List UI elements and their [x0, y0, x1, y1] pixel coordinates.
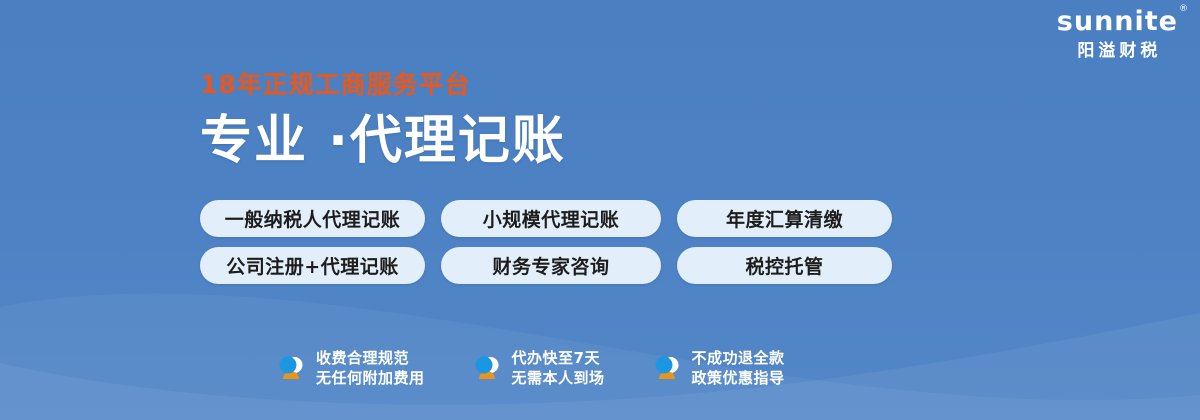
- service-pill-small-scale[interactable]: 小规模代理记账: [441, 200, 661, 237]
- service-pill-tax-control-hosting[interactable]: 税控托管: [677, 247, 892, 284]
- registered-trademark-icon: ®: [1179, 5, 1189, 14]
- dual-circle-icon: [275, 352, 307, 384]
- feature-text-guarantee: 不成功退全款 政策优惠指导: [692, 350, 785, 386]
- feature-strip: 收费合理规范 无任何附加费用 代办快至7天 无需本人到场: [275, 350, 785, 386]
- feature-item-guarantee: 不成功退全款 政策优惠指导: [651, 350, 785, 386]
- service-pill-finance-consulting[interactable]: 财务专家咨询: [441, 247, 661, 284]
- feature-line-1: 收费合理规范: [316, 350, 425, 367]
- service-pill-row-2: 公司注册+代理记账 财务专家咨询 税控托管: [200, 247, 892, 284]
- feature-text-pricing: 收费合理规范 无任何附加费用: [316, 350, 425, 386]
- service-pill-row-1: 一般纳税人代理记账 小规模代理记账 年度汇算清缴: [200, 200, 892, 237]
- service-pill-group: 一般纳税人代理记账 小规模代理记账 年度汇算清缴 公司注册+代理记账 财务专家咨…: [200, 200, 892, 284]
- feature-line-1: 代办快至7天: [512, 350, 605, 367]
- feature-line-2: 无任何附加费用: [316, 370, 425, 387]
- headline-block: 18年正规工商服务平台 专业 ·代理记账: [200, 72, 566, 169]
- promotional-banner: sunnite ® 阳溢财税 18年正规工商服务平台 专业 ·代理记账 一般纳税…: [0, 0, 1200, 420]
- eyebrow-text: 18年正规工商服务平台: [200, 72, 566, 97]
- feature-item-speed: 代办快至7天 无需本人到场: [471, 350, 605, 386]
- logo-wordmark-text: sunnite: [1057, 6, 1178, 37]
- service-pill-annual-settlement[interactable]: 年度汇算清缴: [677, 200, 892, 237]
- dual-circle-icon: [651, 352, 683, 384]
- service-pill-general-taxpayer[interactable]: 一般纳税人代理记账: [200, 200, 425, 237]
- feature-line-1: 不成功退全款: [692, 350, 785, 367]
- service-pill-company-registration[interactable]: 公司注册+代理记账: [200, 247, 425, 284]
- dual-circle-icon: [471, 352, 503, 384]
- logo-chinese-name: 阳溢财税: [1057, 42, 1178, 59]
- feature-line-2: 无需本人到场: [512, 370, 605, 387]
- page-title: 专业 ·代理记账: [200, 114, 566, 169]
- logo-wordmark: sunnite ®: [1057, 8, 1178, 35]
- feature-text-speed: 代办快至7天 无需本人到场: [512, 350, 605, 386]
- feature-line-2: 政策优惠指导: [692, 370, 785, 387]
- brand-logo: sunnite ® 阳溢财税: [1057, 8, 1178, 59]
- feature-item-pricing: 收费合理规范 无任何附加费用: [275, 350, 425, 386]
